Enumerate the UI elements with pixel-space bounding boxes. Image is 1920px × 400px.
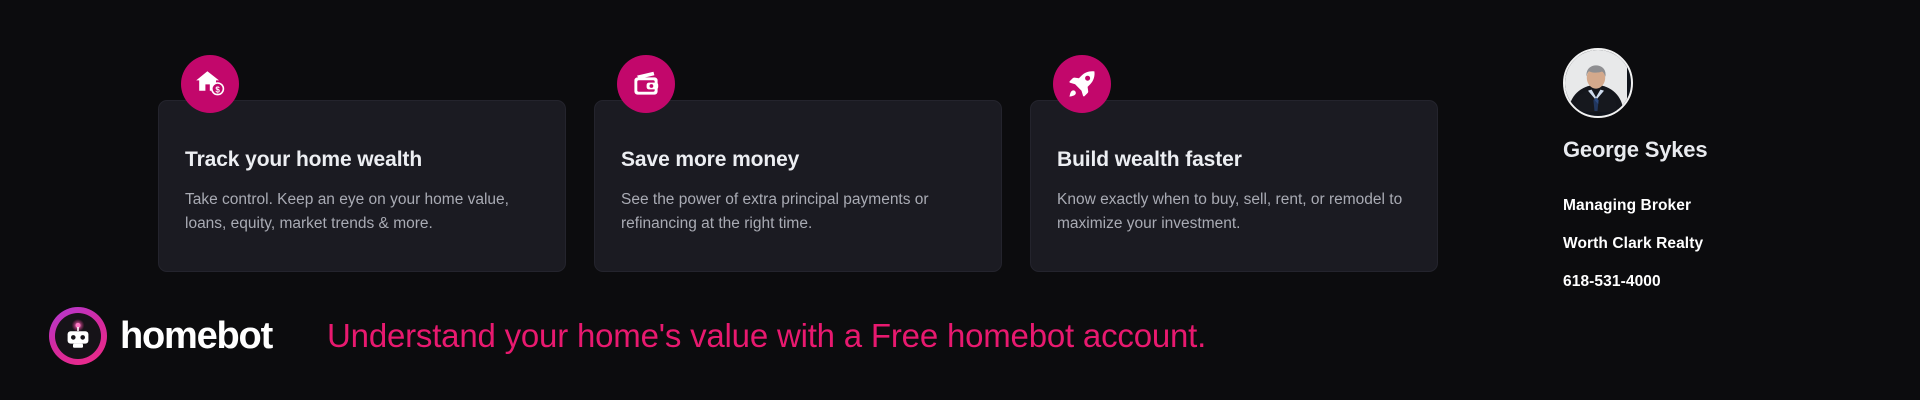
wallet-icon — [617, 55, 675, 113]
homebot-robot-icon — [49, 307, 107, 365]
feature-card-track-home-wealth[interactable]: $ Track your home wealth Take control. K… — [158, 100, 566, 272]
homebot-promo-banner: $ Track your home wealth Take control. K… — [0, 0, 1920, 400]
agent-name: George Sykes — [1563, 137, 1863, 163]
agent-company: Worth Clark Realty — [1563, 235, 1863, 253]
homebot-wordmark: homebot — [120, 315, 272, 358]
feature-card-save-more-money[interactable]: Save more money See the power of extra p… — [594, 100, 1002, 272]
feature-card-title: Save more money — [621, 147, 975, 172]
feature-card-description: Know exactly when to buy, sell, rent, or… — [1057, 188, 1407, 236]
house-with-dollar-coin-icon: $ — [181, 55, 239, 113]
feature-card-title: Build wealth faster — [1057, 147, 1411, 172]
agent-title: Managing Broker — [1563, 197, 1863, 215]
homebot-robot-icon-inner — [55, 313, 101, 359]
homebot-logo[interactable]: homebot — [49, 307, 272, 365]
rocket-icon — [1053, 55, 1111, 113]
cta-text[interactable]: Understand your home's value with a Free… — [327, 317, 1206, 355]
avatar — [1563, 48, 1633, 118]
feature-card-description: Take control. Keep an eye on your home v… — [185, 188, 535, 236]
feature-cards-row: $ Track your home wealth Take control. K… — [158, 100, 1438, 272]
agent-contact-panel: George Sykes Managing Broker Worth Clark… — [1563, 48, 1863, 291]
footer-bar: homebot Understand your home's value wit… — [0, 296, 1920, 376]
feature-card-build-wealth-faster[interactable]: Build wealth faster Know exactly when to… — [1030, 100, 1438, 272]
agent-phone[interactable]: 618-531-4000 — [1563, 273, 1863, 291]
svg-text:$: $ — [215, 85, 220, 94]
feature-card-title: Track your home wealth — [185, 147, 539, 172]
feature-card-description: See the power of extra principal payment… — [621, 188, 971, 236]
